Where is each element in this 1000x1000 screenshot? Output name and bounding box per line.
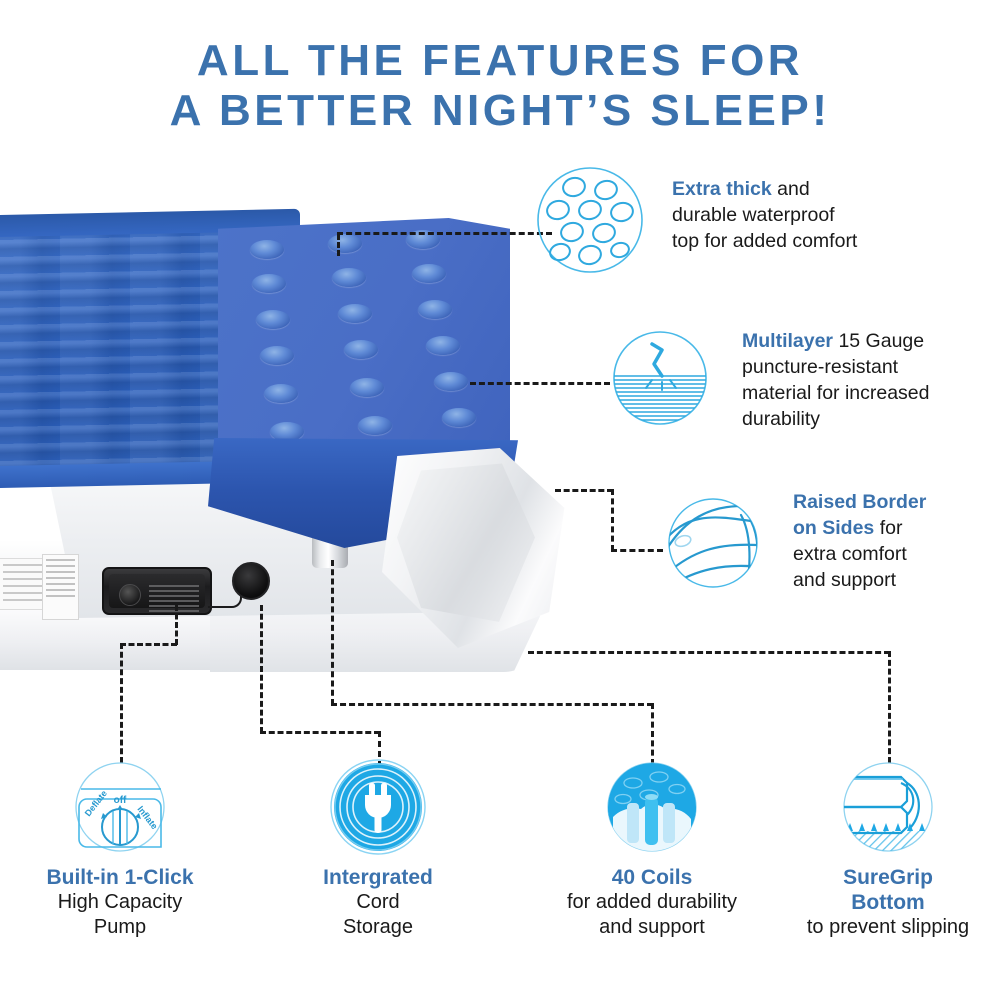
feature-pump: off Deflate Inflate Built-in 1-Click Hig… bbox=[0, 755, 240, 940]
connector-raised-border-v bbox=[611, 489, 614, 551]
raised-border-icon bbox=[655, 485, 775, 610]
feature-cord-sub-2: Storage bbox=[258, 915, 498, 940]
feature-pump-title: Built-in 1-Click bbox=[0, 865, 240, 890]
callout-multilayer-text: Multilayer 15 Gauge puncture-resistant m… bbox=[742, 328, 930, 432]
power-plug-icon bbox=[258, 755, 498, 865]
feature-cord-sub-1: Cord bbox=[258, 890, 498, 915]
pump-dial-knob bbox=[119, 584, 141, 606]
connector-cord-v1 bbox=[260, 605, 263, 733]
connector-pump-h bbox=[120, 643, 177, 646]
feature-coils-title: 40 Coils bbox=[532, 865, 772, 890]
connector-pump-v2 bbox=[120, 643, 123, 763]
connector-suregrip-v bbox=[888, 651, 891, 763]
feature-pump-sub-2: Pump bbox=[0, 915, 240, 940]
feature-suregrip-title-1: SureGrip bbox=[768, 865, 1000, 890]
dimpled-surface-icon bbox=[530, 160, 650, 285]
connector-extra-thick-v bbox=[337, 234, 340, 256]
callout-multilayer: Multilayer 15 Gauge puncture-resistant m… bbox=[600, 318, 930, 443]
feature-coils-sub-1: for added durability bbox=[532, 890, 772, 915]
product-label-brand bbox=[42, 554, 79, 620]
built-in-pump bbox=[102, 567, 212, 615]
feature-suregrip-title-2: Bottom bbox=[768, 890, 1000, 915]
feature-suregrip-sub-1: to prevent slipping bbox=[768, 915, 1000, 940]
cord-storage-port bbox=[232, 562, 270, 600]
callout-extra-thick-text: Extra thick and durable waterproof top f… bbox=[672, 176, 857, 254]
connector-coils-v1 bbox=[331, 560, 334, 705]
puncture-resistant-icon bbox=[600, 318, 720, 443]
infographic-canvas: ALL THE FEATURES FOR A BETTER NIGHT’S SL… bbox=[0, 0, 1000, 1000]
connector-cord-h bbox=[260, 731, 380, 734]
callout-raised-border-text: Raised Border on Sides for extra comfort… bbox=[793, 489, 926, 593]
callout-raised-border: Raised Border on Sides for extra comfort… bbox=[655, 485, 926, 610]
suregrip-bottom-icon bbox=[768, 755, 1000, 865]
svg-text:Deflate: Deflate bbox=[83, 788, 109, 818]
feature-suregrip: SureGrip Bottom to prevent slipping bbox=[768, 755, 1000, 940]
connector-pump-v1 bbox=[175, 605, 178, 645]
title-line-2: A BETTER NIGHT’S SLEEP! bbox=[0, 86, 1000, 136]
svg-text:off: off bbox=[114, 795, 127, 806]
connector-raised-border-h1 bbox=[555, 489, 613, 492]
pump-dial-icon: off Deflate Inflate bbox=[0, 755, 240, 865]
coils-icon bbox=[532, 755, 772, 865]
connector-suregrip-h bbox=[528, 651, 890, 654]
feature-cord-storage: Intergrated Cord Storage bbox=[258, 755, 498, 940]
feature-coils: 40 Coils for added durability and suppor… bbox=[532, 755, 772, 940]
connector-coils-h bbox=[331, 703, 653, 706]
feature-pump-sub-1: High Capacity bbox=[0, 890, 240, 915]
connector-multilayer-h bbox=[470, 382, 610, 385]
feature-coils-sub-2: and support bbox=[532, 915, 772, 940]
page-title: ALL THE FEATURES FOR A BETTER NIGHT’S SL… bbox=[0, 36, 1000, 136]
feature-cord-title: Intergrated bbox=[258, 865, 498, 890]
callout-extra-thick: Extra thick and durable waterproof top f… bbox=[530, 160, 857, 285]
connector-extra-thick-h bbox=[337, 232, 552, 235]
title-line-1: ALL THE FEATURES FOR bbox=[0, 36, 1000, 86]
air-mattress-illustration bbox=[0, 210, 590, 700]
